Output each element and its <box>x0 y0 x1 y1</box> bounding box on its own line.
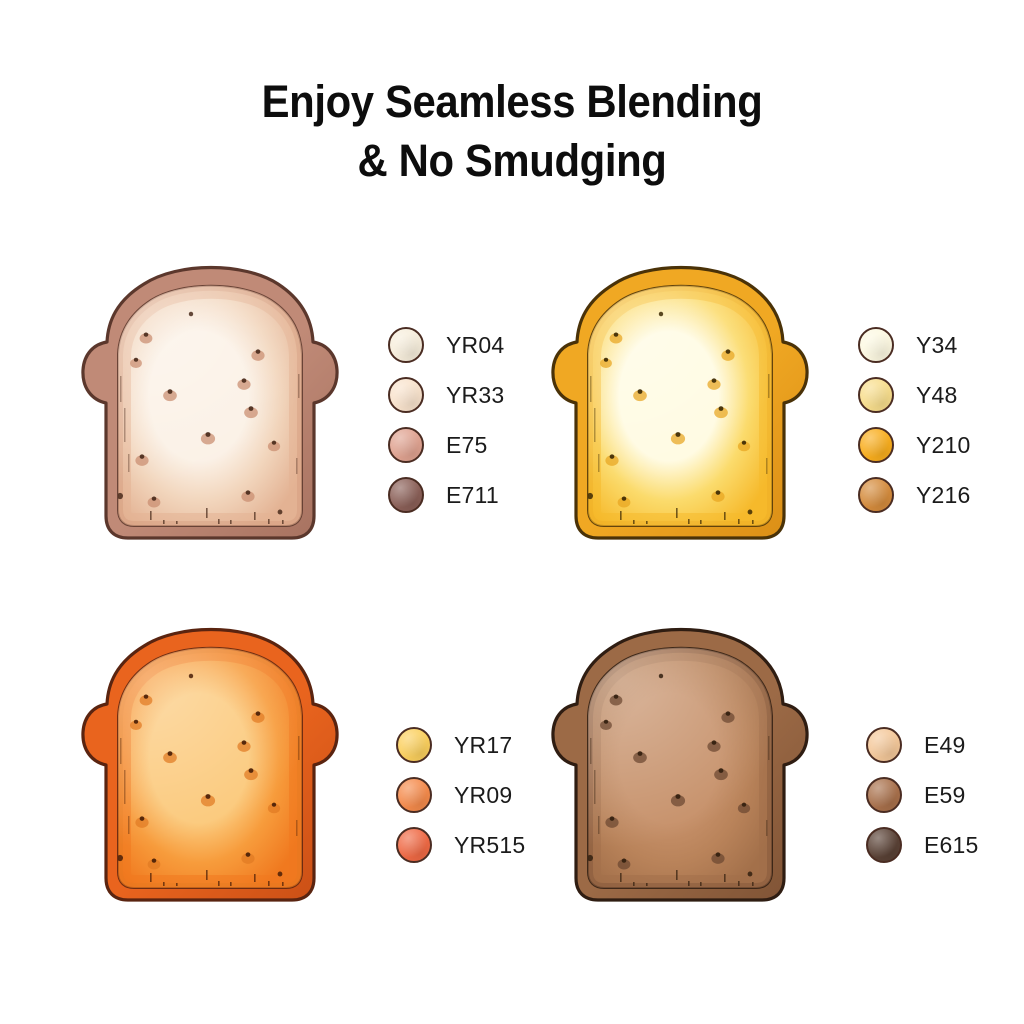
palette-group-orange-toast: YR17YR09YR515 <box>58 620 528 920</box>
swatch-row[interactable]: E615 <box>866 820 979 870</box>
swatch-label: E615 <box>924 832 979 859</box>
swatch-list-2: Y34Y48Y210Y216 <box>858 320 971 520</box>
page-title-line-1: Enjoy Seamless Blending <box>36 72 988 131</box>
swatch-label: YR17 <box>454 732 512 759</box>
swatch-row[interactable]: YR33 <box>388 370 504 420</box>
toast-illustration-1 <box>58 258 358 550</box>
color-swatch-Y34[interactable] <box>858 327 894 363</box>
swatch-row[interactable]: Y48 <box>858 370 971 420</box>
toast-illustration-2 <box>528 258 828 550</box>
swatch-row[interactable]: Y34 <box>858 320 971 370</box>
swatch-label: Y34 <box>916 332 958 359</box>
color-swatch-YR17[interactable] <box>396 727 432 763</box>
page-title: Enjoy Seamless Blending & No Smudging <box>36 72 988 191</box>
color-swatch-YR04[interactable] <box>388 327 424 363</box>
color-swatch-Y216[interactable] <box>858 477 894 513</box>
swatch-label: YR33 <box>446 382 504 409</box>
swatch-label: E59 <box>924 782 966 809</box>
poster-canvas: Enjoy Seamless Blending & No Smudging YR… <box>0 0 1024 1024</box>
color-swatch-E75[interactable] <box>388 427 424 463</box>
swatch-label: Y216 <box>916 482 971 509</box>
swatch-label: YR09 <box>454 782 512 809</box>
swatch-row[interactable]: Y216 <box>858 470 971 520</box>
swatch-row[interactable]: YR04 <box>388 320 504 370</box>
color-swatch-E49[interactable] <box>866 727 902 763</box>
swatch-list-4: E49E59E615 <box>866 720 979 870</box>
swatch-row[interactable]: YR09 <box>396 770 525 820</box>
swatch-row[interactable]: Y210 <box>858 420 971 470</box>
swatch-row[interactable]: E711 <box>388 470 504 520</box>
swatch-label: E711 <box>446 482 499 509</box>
color-swatch-YR515[interactable] <box>396 827 432 863</box>
swatch-label: YR04 <box>446 332 504 359</box>
color-swatch-Y210[interactable] <box>858 427 894 463</box>
toast-slice-3 <box>58 620 358 912</box>
palette-group-light-golden-toast: YR04YR33E75E711 <box>58 258 528 558</box>
swatch-label: Y210 <box>916 432 971 459</box>
swatch-label: Y48 <box>916 382 958 409</box>
toast-slice-4 <box>528 620 828 912</box>
swatch-row[interactable]: E59 <box>866 770 979 820</box>
swatch-list-3: YR17YR09YR515 <box>396 720 525 870</box>
color-swatch-YR09[interactable] <box>396 777 432 813</box>
toast-slice-1 <box>58 258 358 550</box>
toast-slice-2 <box>528 258 828 550</box>
swatch-row[interactable]: E49 <box>866 720 979 770</box>
toast-illustration-3 <box>58 620 358 912</box>
swatch-row[interactable]: YR17 <box>396 720 525 770</box>
swatch-label: E49 <box>924 732 966 759</box>
color-swatch-E59[interactable] <box>866 777 902 813</box>
color-swatch-E615[interactable] <box>866 827 902 863</box>
swatch-label: YR515 <box>454 832 525 859</box>
palette-group-buttery-yellow-toast: Y34Y48Y210Y216 <box>528 258 998 558</box>
swatch-list-1: YR04YR33E75E711 <box>388 320 504 520</box>
page-title-line-2: & No Smudging <box>36 131 988 190</box>
toast-illustration-4 <box>528 620 828 912</box>
palette-group-dark-brown-toast: E49E59E615 <box>528 620 998 920</box>
color-swatch-Y48[interactable] <box>858 377 894 413</box>
color-swatch-E711[interactable] <box>388 477 424 513</box>
swatch-label: E75 <box>446 432 488 459</box>
color-swatch-YR33[interactable] <box>388 377 424 413</box>
swatch-row[interactable]: E75 <box>388 420 504 470</box>
swatch-row[interactable]: YR515 <box>396 820 525 870</box>
